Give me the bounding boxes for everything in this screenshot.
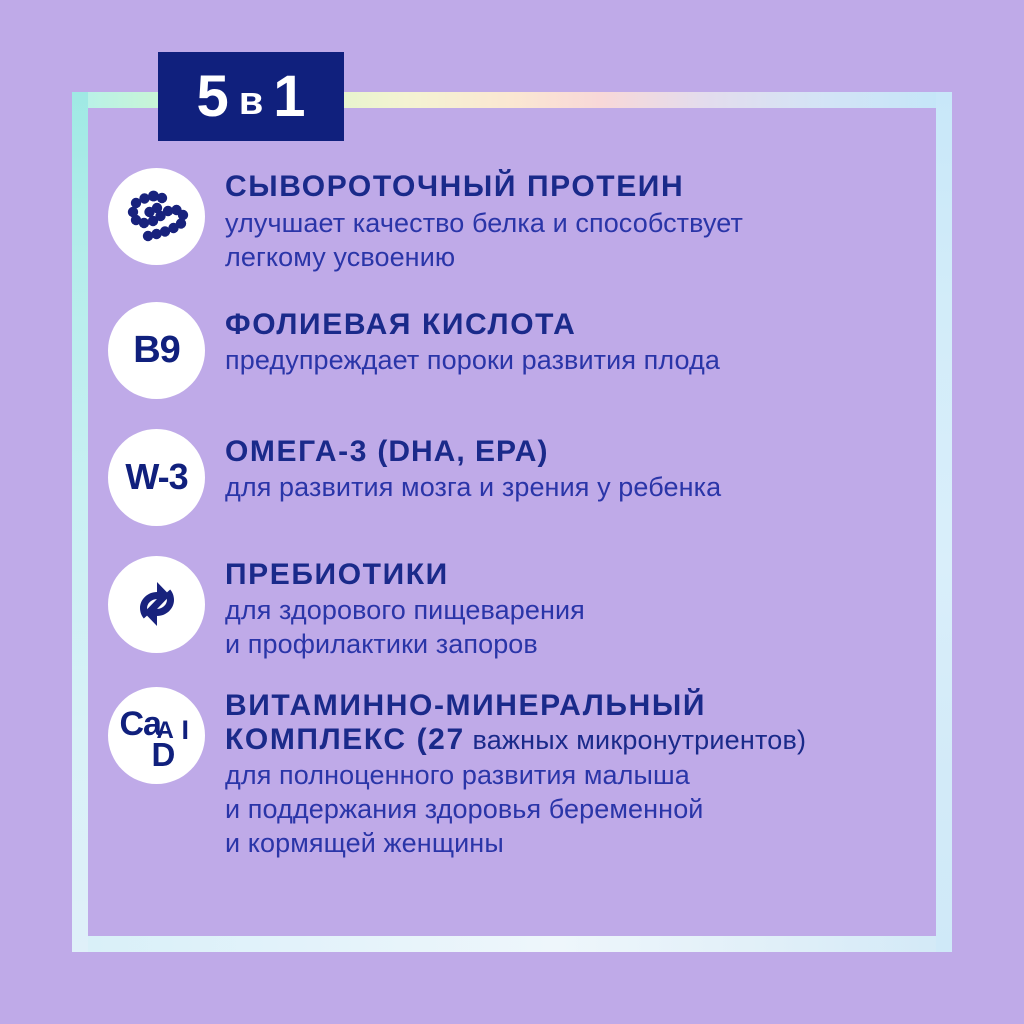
vitamin-mineral-icon-letters: Ca A I D	[120, 703, 194, 769]
benefit-description: для здорового пищеварения и профилактики…	[225, 593, 938, 661]
badge-5-in-1: 5 в 1	[158, 52, 344, 141]
benefit-title-line2: КОМПЛЕКС (27 важных микронутриентов)	[225, 723, 938, 757]
frame-edge-bottom	[72, 936, 952, 952]
desc-line: для развития мозга и зрения у ребенка	[225, 470, 938, 504]
desc-line: улучшает качество белка и способствует	[225, 206, 938, 240]
benefit-title: ВИТАМИННО-МИНЕРАЛЬНЫЙ КОМПЛЕКС (27 важны…	[225, 689, 938, 756]
icon-letter-i: I	[182, 715, 190, 746]
vitamin-b9-icon: B9	[108, 302, 205, 399]
prebiotics-cycle-icon	[108, 556, 205, 653]
benefit-description: улучшает качество белка и способствует л…	[225, 206, 938, 274]
benefit-item-prebiotics: ПРЕБИОТИКИ для здорового пищеварения и п…	[108, 556, 938, 662]
benefit-item-omega-3: W-3 ОМЕГА-3 (DHA, EPA) для развития мозг…	[108, 429, 938, 526]
icon-letter-d: D	[152, 736, 176, 774]
benefit-text-block: ВИТАМИННО-МИНЕРАЛЬНЫЙ КОМПЛЕКС (27 важны…	[225, 687, 938, 860]
benefit-text-block: ОМЕГА-3 (DHA, EPA) для развития мозга и …	[225, 429, 938, 505]
benefit-description: для развития мозга и зрения у ребенка	[225, 470, 938, 504]
desc-line: предупреждает пороки развития плода	[225, 343, 938, 377]
omega-3-icon-label: W-3	[125, 456, 187, 498]
benefit-title: ПРЕБИОТИКИ	[225, 558, 938, 592]
badge-total: 1	[273, 68, 305, 126]
benefit-title-paren: (DHA, EPA)	[377, 435, 548, 468]
benefit-title-main: ОМЕГА-3	[225, 435, 368, 468]
benefits-list: СЫВОРОТОЧНЫЙ ПРОТЕИН улучшает качество б…	[108, 168, 938, 860]
benefit-title-line2-tail: важных микронутриентов)	[465, 725, 806, 755]
benefit-item-whey-protein: СЫВОРОТОЧНЫЙ ПРОТЕИН улучшает качество б…	[108, 168, 938, 274]
vitamin-b9-icon-label: B9	[133, 329, 180, 372]
benefit-title: ОМЕГА-3 (DHA, EPA)	[225, 435, 938, 469]
infographic-poster: 5 в 1	[0, 0, 1024, 1024]
benefit-text-block: СЫВОРОТОЧНЫЙ ПРОТЕИН улучшает качество б…	[225, 168, 938, 274]
desc-line: и поддержания здоровья беременной	[225, 792, 938, 826]
frame-edge-left	[72, 92, 88, 952]
desc-line: для полноценного развития малыша	[225, 758, 938, 792]
benefit-title-line1: ВИТАМИННО-МИНЕРАЛЬНЫЙ	[225, 689, 938, 723]
benefit-description: для полноценного развития малыша и подде…	[225, 758, 938, 860]
vitamin-mineral-icon: Ca A I D	[108, 687, 205, 784]
badge-count: 5	[196, 68, 228, 126]
omega-3-icon: W-3	[108, 429, 205, 526]
desc-line: и кормящей женщины	[225, 826, 938, 860]
benefit-title-nutrient-count: 27	[428, 723, 465, 756]
benefit-text-block: ПРЕБИОТИКИ для здорового пищеварения и п…	[225, 556, 938, 662]
frame-edge-right	[936, 92, 952, 952]
benefit-item-folic-acid: B9 ФОЛИЕВАЯ КИСЛОТА предупреждает пороки…	[108, 302, 938, 399]
benefit-title-line2-main: КОМПЛЕКС (	[225, 723, 428, 756]
benefit-text-block: ФОЛИЕВАЯ КИСЛОТА предупреждает пороки ра…	[225, 302, 938, 378]
benefit-description: предупреждает пороки развития плода	[225, 343, 938, 377]
desc-line: легкому усвоению	[225, 240, 938, 274]
benefit-title: ФОЛИЕВАЯ КИСЛОТА	[225, 308, 938, 342]
badge-separator: в	[239, 81, 264, 121]
benefit-title: СЫВОРОТОЧНЫЙ ПРОТЕИН	[225, 170, 938, 204]
benefit-item-vitamin-mineral-complex: Ca A I D ВИТАМИННО-МИНЕРАЛЬНЫЙ КОМПЛЕКС …	[108, 687, 938, 860]
desc-line: для здорового пищеварения	[225, 593, 938, 627]
desc-line: и профилактики запоров	[225, 627, 938, 661]
protein-chain-icon	[108, 168, 205, 265]
